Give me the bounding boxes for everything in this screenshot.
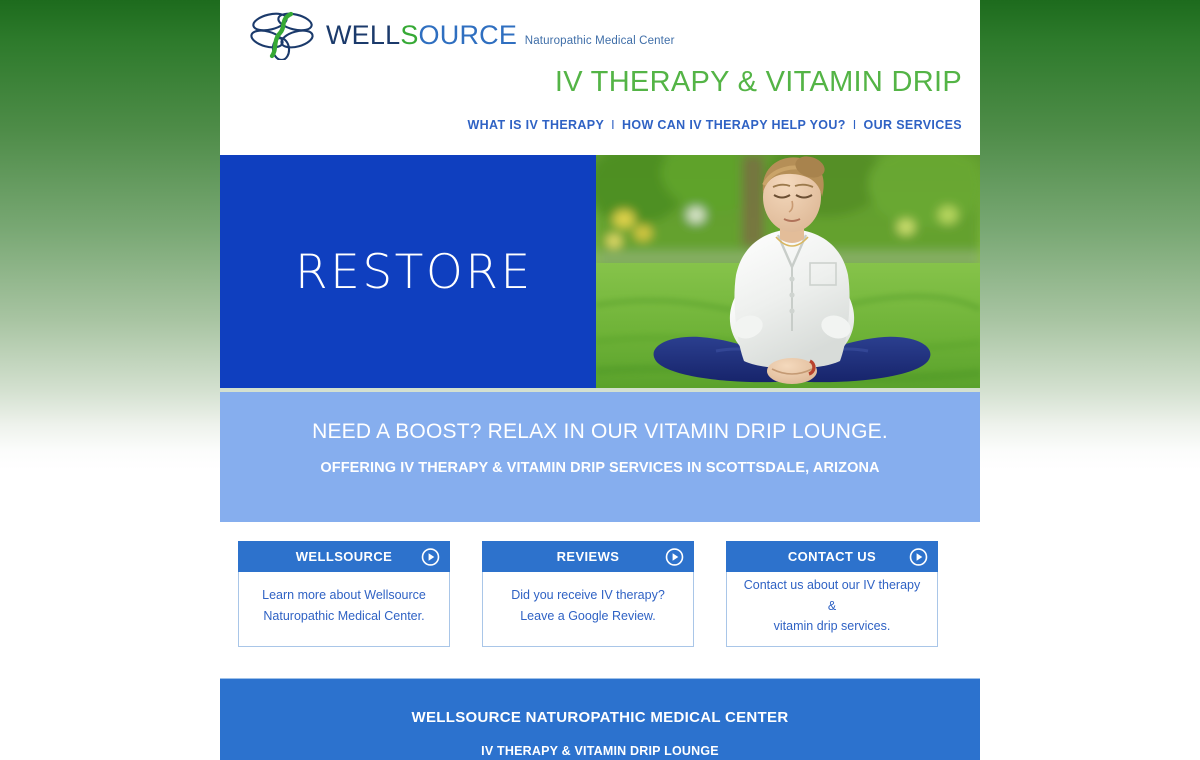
- card-text: Did you receive IV therapy? Leave a Goog…: [511, 585, 665, 626]
- logo-word-s: S: [400, 20, 418, 50]
- site-header: WELLSOURCE Naturopathic Medical Center I…: [220, 0, 980, 155]
- logo-word-ource: OURCE: [419, 20, 518, 50]
- card-title: CONTACT US: [788, 549, 876, 564]
- card-header[interactable]: CONTACT US: [726, 541, 938, 572]
- card-text-line2: vitamin drip services.: [774, 619, 891, 633]
- footer-company-name: WELLSOURCE NATUROPATHIC MEDICAL CENTER: [220, 709, 980, 726]
- nav-item-what-is-iv-therapy[interactable]: WHAT IS IV THERAPY: [468, 118, 605, 132]
- card-text: Learn more about Wellsource Naturopathic…: [262, 585, 426, 626]
- card-text-line1: Contact us about our IV therapy &: [744, 578, 921, 613]
- logo-wordmark: WELLSOURCE Naturopathic Medical Center: [326, 20, 675, 49]
- card-text-line1: Did you receive IV therapy?: [511, 588, 665, 602]
- hero-headline: RESTORE: [295, 249, 533, 296]
- card-text-line2: Leave a Google Review.: [520, 609, 656, 623]
- hero-section: RESTORE: [220, 155, 980, 388]
- card-contact-us[interactable]: CONTACT US Contact us about our IV thera…: [726, 541, 938, 647]
- nav-item-our-services[interactable]: OUR SERVICES: [864, 118, 962, 132]
- logo-word-well: WELL: [326, 20, 400, 50]
- flower-petal-logo-icon: [250, 8, 316, 60]
- nav-separator: I: [846, 118, 864, 132]
- site-logo[interactable]: WELLSOURCE Naturopathic Medical Center: [250, 8, 675, 60]
- nav-item-how-can-iv-therapy-help-you[interactable]: HOW CAN IV THERAPY HELP YOU?: [622, 118, 846, 132]
- site-footer: WELLSOURCE NATUROPATHIC MEDICAL CENTER I…: [220, 678, 980, 760]
- card-title: WELLSOURCE: [296, 549, 392, 564]
- card-header[interactable]: WELLSOURCE: [238, 541, 450, 572]
- page-title: IV THERAPY & VITAMIN DRIP: [555, 66, 962, 99]
- card-body: Contact us about our IV therapy & vitami…: [727, 572, 937, 646]
- card-body: Learn more about Wellsource Naturopathic…: [239, 572, 449, 646]
- card-wellsource[interactable]: WELLSOURCE Learn more about Wellsource N…: [238, 541, 450, 647]
- banner-headline: NEED A BOOST? RELAX IN OUR VITAMIN DRIP …: [220, 420, 980, 444]
- card-row: WELLSOURCE Learn more about Wellsource N…: [238, 541, 980, 647]
- nav-separator: I: [604, 118, 622, 132]
- promo-banner: NEED A BOOST? RELAX IN OUR VITAMIN DRIP …: [220, 392, 980, 522]
- card-header[interactable]: REVIEWS: [482, 541, 694, 572]
- hero-image-meditation: [596, 155, 980, 388]
- footer-service-name: IV THERAPY & VITAMIN DRIP LOUNGE: [220, 744, 980, 758]
- card-text-line1: Learn more about Wellsource: [262, 588, 426, 602]
- card-body: Did you receive IV therapy? Leave a Goog…: [483, 572, 693, 646]
- card-text-line2: Naturopathic Medical Center.: [263, 609, 424, 623]
- logo-tagline: Naturopathic Medical Center: [525, 35, 675, 47]
- card-text: Contact us about our IV therapy & vitami…: [741, 575, 923, 637]
- main-nav: WHAT IS IV THERAPYIHOW CAN IV THERAPY HE…: [468, 118, 962, 132]
- card-reviews[interactable]: REVIEWS Did you receive IV therapy? Leav…: [482, 541, 694, 647]
- page-container: WELLSOURCE Naturopathic Medical Center I…: [220, 0, 980, 760]
- card-title: REVIEWS: [557, 549, 620, 564]
- hero-blue-panel: RESTORE: [220, 155, 596, 388]
- banner-subheadline: OFFERING IV THERAPY & VITAMIN DRIP SERVI…: [220, 460, 980, 476]
